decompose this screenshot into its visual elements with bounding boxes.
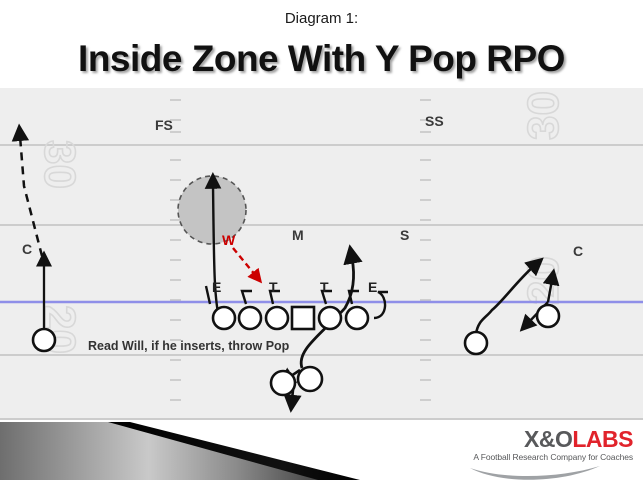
defender-label-t-right: T bbox=[320, 279, 329, 295]
quarterback-marker bbox=[271, 371, 295, 395]
lineman-circle bbox=[239, 307, 261, 329]
defender-label-t-left: T bbox=[269, 279, 278, 295]
defender-label-c-right: C bbox=[573, 243, 583, 259]
logo-xo-text: X&O bbox=[524, 426, 572, 452]
slot-right-marker bbox=[537, 305, 559, 327]
defender-label-s: S bbox=[400, 227, 409, 243]
logo-wordmark: X&OLABS bbox=[473, 428, 633, 451]
logo-labs-text: LABS bbox=[572, 426, 633, 452]
yard-number: 30 bbox=[519, 91, 568, 140]
defender-label-e-right: E bbox=[368, 279, 377, 295]
football-field: 30 20 30 20 bbox=[0, 88, 643, 420]
defender-label-m: M bbox=[292, 227, 304, 243]
page-footer: X&OLABS A Football Research Company for … bbox=[0, 420, 643, 480]
logo-tagline: A Football Research Company for Coaches bbox=[473, 452, 633, 462]
page-title: Inside Zone With Y Pop RPO bbox=[0, 38, 643, 80]
brand-logo: X&OLABS A Football Research Company for … bbox=[473, 428, 633, 462]
lineman-circle bbox=[213, 307, 235, 329]
defender-label-e-left: E bbox=[212, 279, 221, 295]
center-square bbox=[292, 307, 314, 329]
yard-number: 30 bbox=[35, 140, 84, 189]
diagram-label: Diagram 1: bbox=[0, 10, 643, 27]
lineman-circle bbox=[266, 307, 288, 329]
defender-label-ss: SS bbox=[425, 113, 444, 129]
defender-label-fs: FS bbox=[155, 117, 173, 133]
defender-label-c-left: C bbox=[22, 241, 32, 257]
wr-right-marker bbox=[465, 332, 487, 354]
yard-number: 20 bbox=[519, 256, 568, 305]
lineman-circle bbox=[346, 307, 368, 329]
coaching-annotation: Read Will, if he inserts, throw Pop bbox=[88, 339, 290, 353]
page-header: Diagram 1: Inside Zone With Y Pop RPO bbox=[0, 0, 643, 88]
diagram-page: Diagram 1: Inside Zone With Y Pop RPO bbox=[0, 0, 643, 480]
running-back-marker bbox=[298, 367, 322, 391]
defender-label-w: W bbox=[222, 232, 236, 248]
lineman-circle bbox=[319, 307, 341, 329]
play-diagram-svg: 30 20 30 20 bbox=[0, 88, 643, 420]
wr-left-marker bbox=[33, 329, 55, 351]
